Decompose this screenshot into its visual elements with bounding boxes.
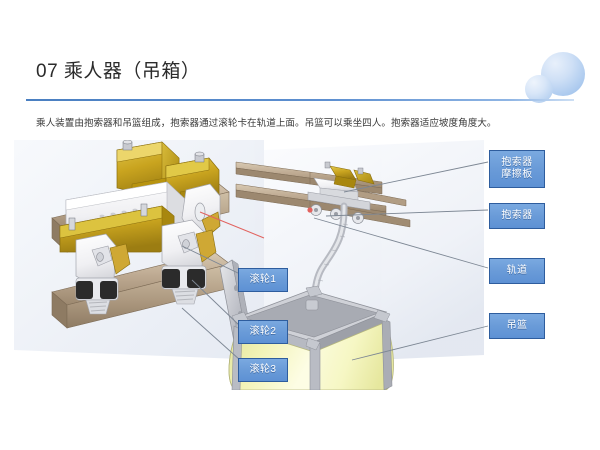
callout-roller-1[interactable]: 滚轮1 xyxy=(238,268,288,292)
callout-gondola-label: 吊篮 xyxy=(507,320,528,332)
callout-roller-3[interactable]: 滚轮3 xyxy=(238,358,288,382)
slide-canvas: 07 乘人器（吊箱） 乘人装置由抱索器和吊篮组成，抱索器通过滚轮卡在轨道上面。吊… xyxy=(0,0,600,450)
callout-grip-friction-plate-label-line1: 抱索器 xyxy=(501,157,532,169)
body-paragraph: 乘人装置由抱索器和吊篮组成，抱索器通过滚轮卡在轨道上面。吊篮可以乘坐四人。抱索器… xyxy=(36,117,566,131)
callout-track[interactable]: 轨道 xyxy=(489,258,545,284)
callout-grip-friction-plate[interactable]: 抱索器 摩擦板 xyxy=(489,150,545,188)
callout-grip-label: 抱索器 xyxy=(501,210,532,222)
callout-roller-2[interactable]: 滚轮2 xyxy=(238,320,288,344)
callout-grip-friction-plate-label-line2: 摩擦板 xyxy=(501,169,532,181)
callout-gondola[interactable]: 吊篮 xyxy=(489,313,545,339)
callout-track-label: 轨道 xyxy=(507,265,528,277)
callout-roller-1-label: 滚轮1 xyxy=(250,274,277,286)
callout-roller-3-label: 滚轮3 xyxy=(250,364,277,376)
callout-roller-2-label: 滚轮2 xyxy=(250,326,277,338)
page-title: 07 乘人器（吊箱） xyxy=(36,59,200,85)
callout-grip[interactable]: 抱索器 xyxy=(489,203,545,229)
title-divider xyxy=(26,99,574,101)
